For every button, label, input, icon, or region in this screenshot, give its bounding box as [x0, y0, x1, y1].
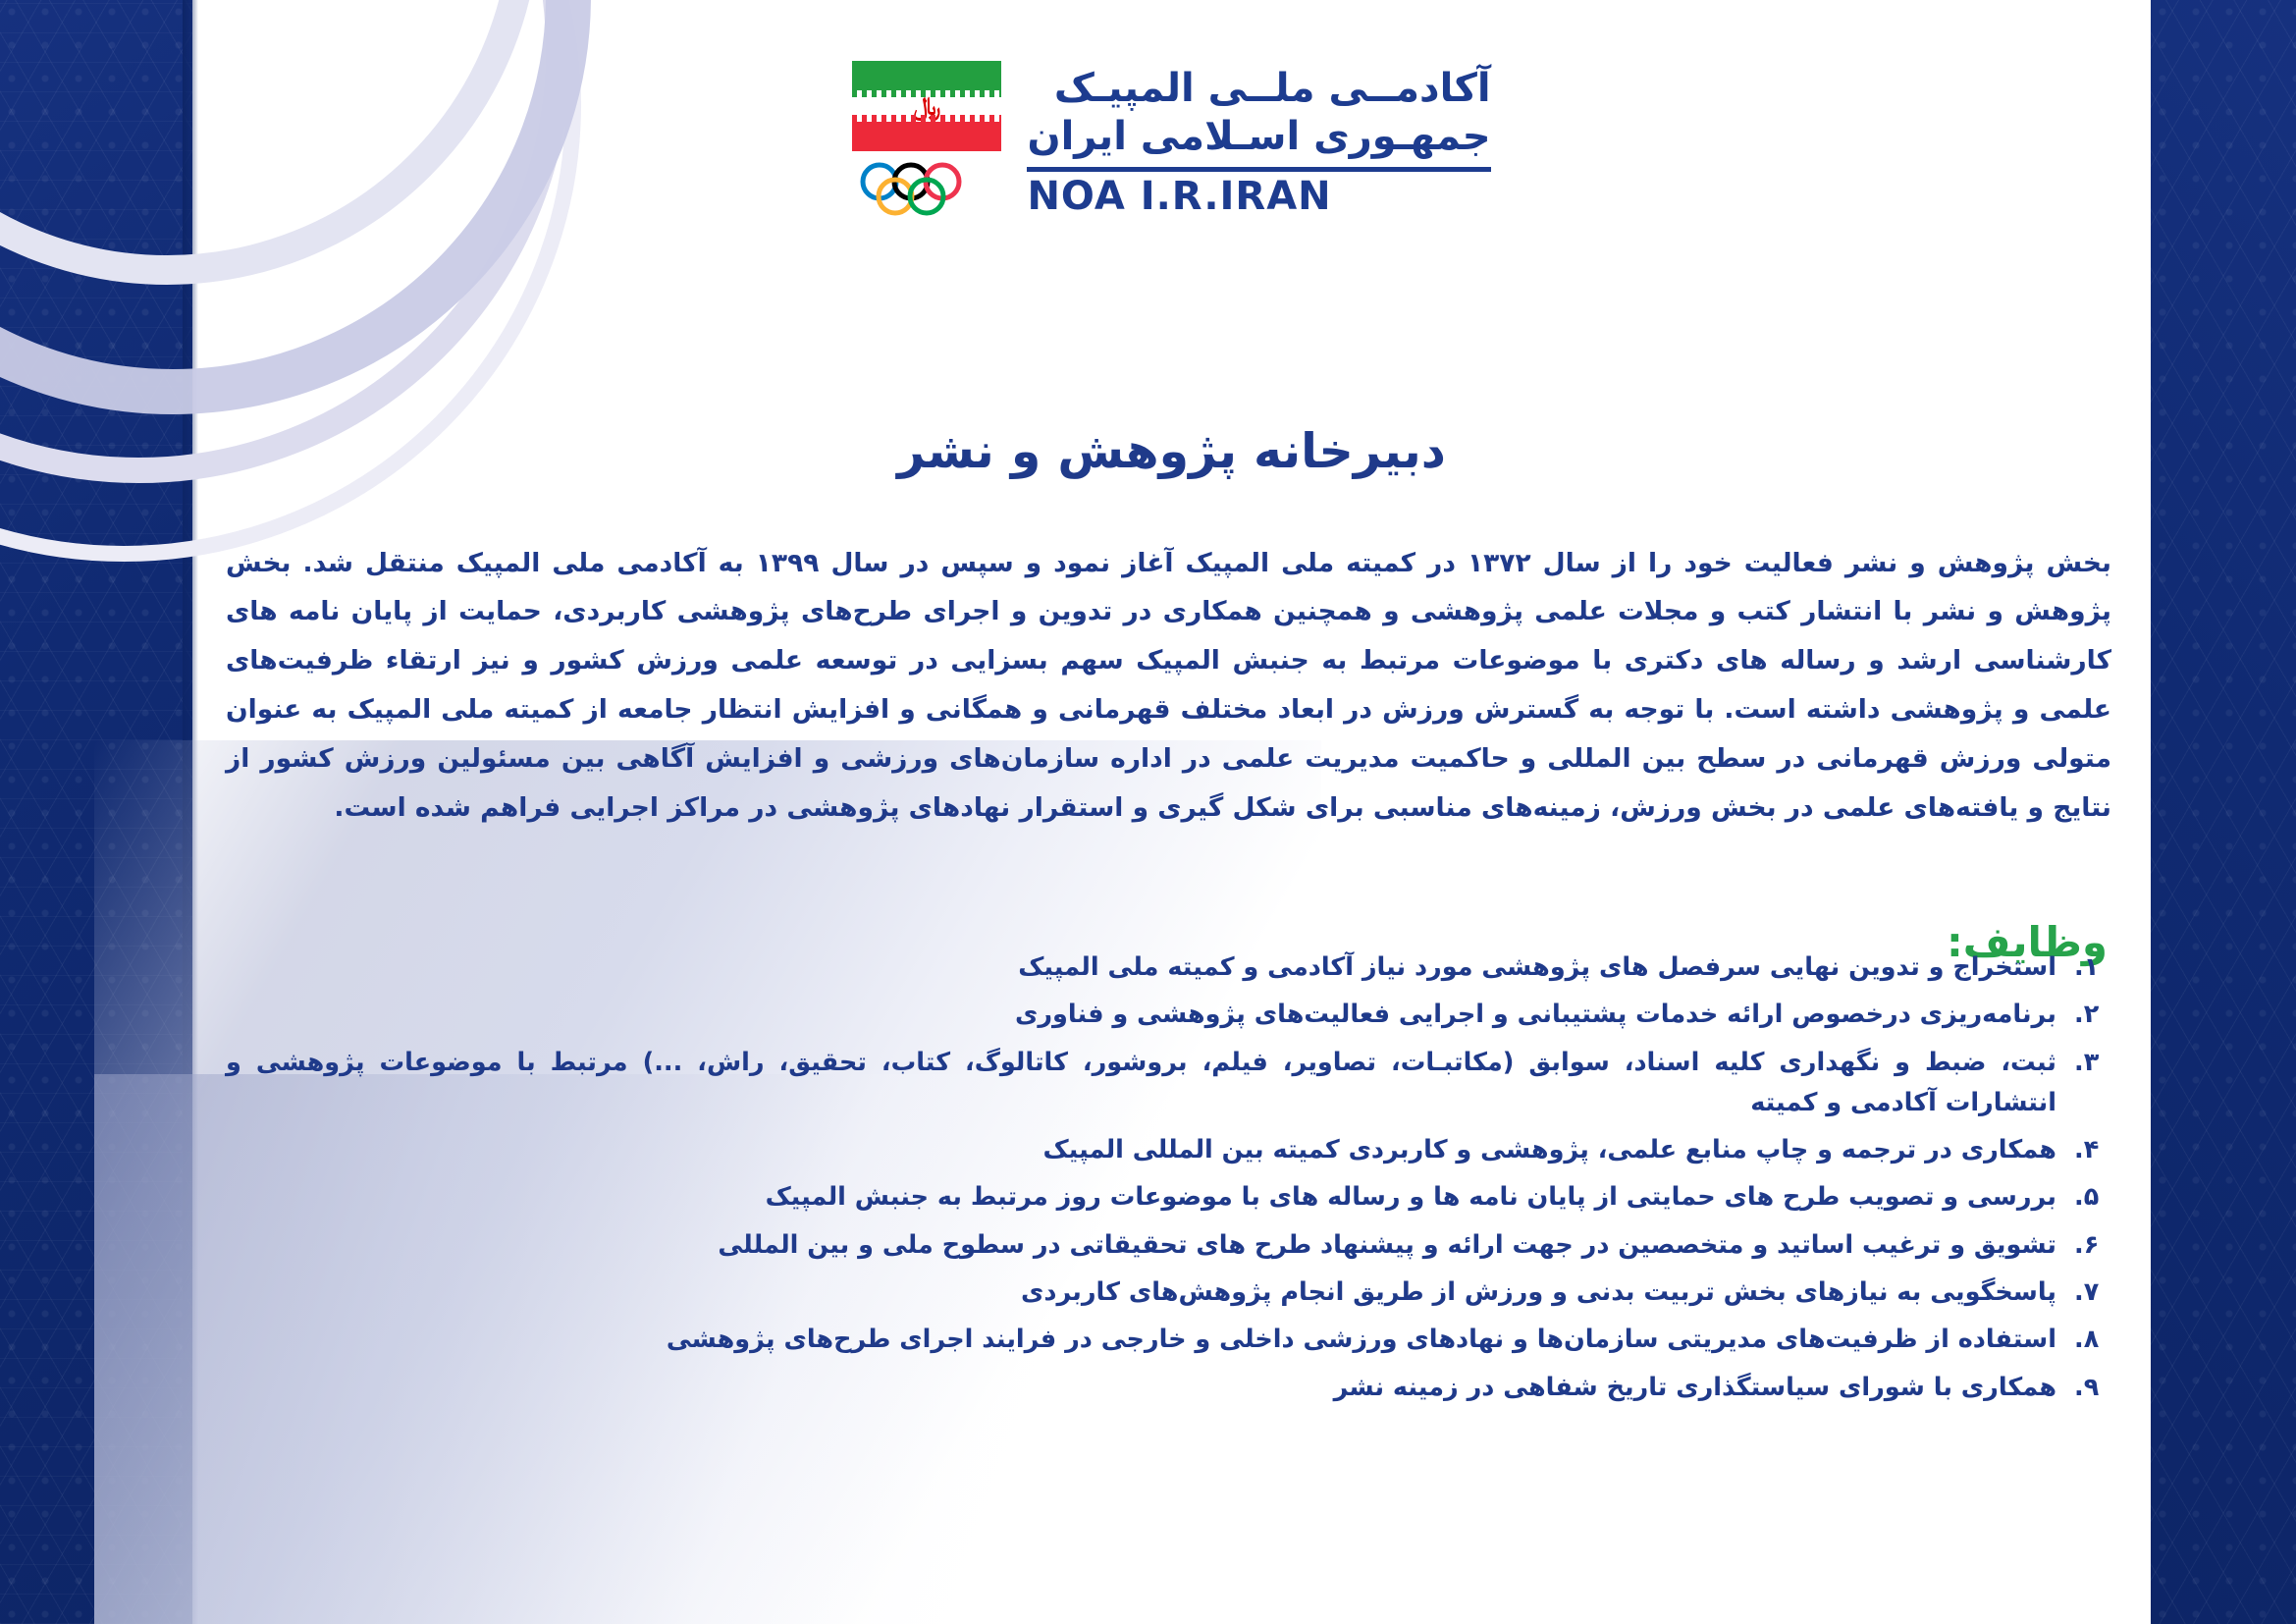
- duty-number: ۴.: [2074, 1130, 2108, 1170]
- flag-green-stripe: [852, 61, 1001, 90]
- logo-name-fa-line1: آکادمــی ملــی المپیـک: [1027, 65, 1490, 113]
- logo-text: آکادمــی ملــی المپیـک جمهـوری اسـلامی ا…: [1027, 61, 1490, 217]
- duty-number: ۳.: [2074, 1043, 2108, 1083]
- duty-text: بررسی و تصویب طرح های حمایتی از پایان نا…: [226, 1177, 2056, 1218]
- poster-page: ﷼ آکادمــی: [0, 0, 2296, 1624]
- iran-flag-icon: ﷼: [852, 61, 1001, 151]
- duty-item: ۱.استخراج و تدوین نهایی سرفصل های پژوهشی…: [226, 947, 2108, 988]
- duty-item: ۸.استفاده از ظرفیت‌های مدیریتی سازمان‌ها…: [226, 1320, 2108, 1360]
- logo-block: ﷼ آکادمــی: [192, 61, 2151, 218]
- duty-text: همکاری در ترجمه و چاپ منابع علمی، پژوهشی…: [226, 1130, 2056, 1170]
- logo-name-fa-line2: جمهـوری اسـلامی ایران: [1027, 113, 1490, 161]
- duty-item: ۷.پاسخگویی به نیازهای بخش تربیت بدنی و و…: [226, 1272, 2108, 1313]
- duty-item: ۳.ثبت، ضبط و نگهداری کلیه اسناد، سوابق (…: [226, 1043, 2108, 1124]
- duty-number: ۱.: [2074, 947, 2108, 988]
- duty-text: ثبت، ضبط و نگهداری کلیه اسناد، سوابق (مک…: [226, 1043, 2056, 1124]
- duty-item: ۶.تشویق و ترغیب اساتید و متخصصین در جهت …: [226, 1225, 2108, 1266]
- duty-text: پاسخگویی به نیازهای بخش تربیت بدنی و ورز…: [226, 1272, 2056, 1313]
- duty-number: ۷.: [2074, 1272, 2108, 1313]
- intro-paragraph: بخش پژوهش و نشر فعالیت خود را از سال ۱۳۷…: [226, 539, 2111, 833]
- duty-number: ۶.: [2074, 1225, 2108, 1266]
- page-title: دبیرخانه پژوهش و نشر: [192, 423, 2151, 479]
- duty-number: ۸.: [2074, 1320, 2108, 1360]
- olympic-rings-icon: [852, 161, 1001, 218]
- logo-divider: [1027, 167, 1490, 172]
- duty-text: استفاده از ظرفیت‌های مدیریتی سازمان‌ها و…: [226, 1320, 2056, 1360]
- flag-red-stripe: [852, 122, 1001, 151]
- duty-text: برنامه‌ریزی درخصوص ارائه خدمات پشتیبانی …: [226, 995, 2056, 1035]
- logo-marks: ﷼: [852, 61, 1001, 218]
- duty-item: ۵.بررسی و تصویب طرح های حمایتی از پایان …: [226, 1177, 2108, 1218]
- duty-text: تشویق و ترغیب اساتید و متخصصین در جهت ار…: [226, 1225, 2056, 1266]
- duty-number: ۲.: [2074, 995, 2108, 1035]
- duty-number: ۹.: [2074, 1368, 2108, 1408]
- flag-kufic-bottom: [852, 115, 1001, 122]
- logo-name-en: NOA I.R.IRAN: [1027, 176, 1490, 217]
- duty-number: ۵.: [2074, 1177, 2108, 1218]
- duty-item: ۴.همکاری در ترجمه و چاپ منابع علمی، پژوه…: [226, 1130, 2108, 1170]
- right-decorative-band: [2151, 0, 2296, 1624]
- duty-text: استخراج و تدوین نهایی سرفصل های پژوهشی م…: [226, 947, 2056, 988]
- duties-list: ۱.استخراج و تدوین نهایی سرفصل های پژوهشی…: [226, 947, 2108, 1415]
- duty-item: ۹.همکاری با شورای سیاستگذاری تاریخ شفاهی…: [226, 1368, 2108, 1408]
- content-column: ﷼ آکادمــی: [192, 0, 2151, 1624]
- left-decorative-band: [0, 0, 192, 1624]
- duty-item: ۲.برنامه‌ریزی درخصوص ارائه خدمات پشتیبان…: [226, 995, 2108, 1035]
- duty-text: همکاری با شورای سیاستگذاری تاریخ شفاهی د…: [226, 1368, 2056, 1408]
- noa-logo: ﷼ آکادمــی: [852, 61, 1490, 218]
